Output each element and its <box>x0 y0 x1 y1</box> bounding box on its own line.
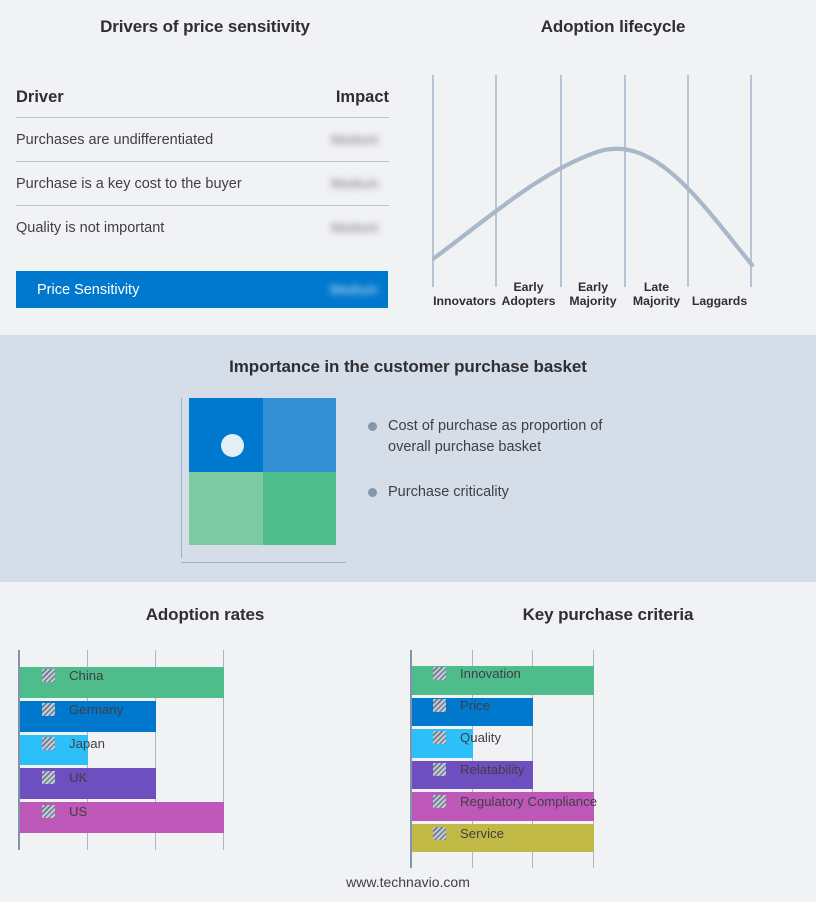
adoption-rates-legend: ChinaGermanyJapanUKUS <box>42 668 123 819</box>
legend-item[interactable]: Japan <box>42 736 123 751</box>
drivers-table: Driver Impact Purchases are undifferenti… <box>16 88 389 249</box>
column-header-driver: Driver <box>16 88 64 107</box>
basket-legend: Cost of purchase as proportion of overal… <box>368 416 668 527</box>
footer-url: www.technavio.com <box>0 874 816 890</box>
table-row: Purchases are undifferentiated Medium <box>16 118 389 162</box>
summary-label: Price Sensitivity <box>37 282 139 298</box>
driver-label: Quality is not important <box>16 220 164 236</box>
lifecycle-title: Adoption lifecycle <box>410 17 816 37</box>
legend-label: Service <box>460 826 504 841</box>
hatched-swatch-icon <box>433 667 446 680</box>
infographic-page: Drivers of price sensitivity Driver Impa… <box>0 0 816 902</box>
basket-quadrant-matrix <box>181 398 346 563</box>
top-section: Drivers of price sensitivity Driver Impa… <box>0 0 816 335</box>
lifecycle-curve-svg <box>432 75 802 310</box>
drivers-table-header: Driver Impact <box>16 88 389 118</box>
adoption-rates-title: Adoption rates <box>0 605 410 625</box>
panel-drivers-of-price-sensitivity: Drivers of price sensitivity Driver Impa… <box>0 0 410 335</box>
hatched-swatch-icon <box>433 699 446 712</box>
legend-item[interactable]: Service <box>433 826 597 841</box>
legend-label: Innovation <box>460 666 521 681</box>
criteria-legend: InnovationPriceQualityRelatabilityRegula… <box>433 666 597 841</box>
panel-adoption-lifecycle: Adoption lifecycle Innovators Ear <box>410 0 816 335</box>
legend-label: Price <box>460 698 490 713</box>
matrix-quadrants <box>189 398 336 545</box>
legend-item[interactable]: Price <box>433 698 597 713</box>
bullet-icon <box>368 422 377 431</box>
quadrant-bottom-right <box>263 472 337 546</box>
hatched-swatch-icon <box>433 827 446 840</box>
legend-item[interactable]: Innovation <box>433 666 597 681</box>
panel-key-purchase-criteria: Key purchase criteria InnovationPriceQua… <box>400 582 816 902</box>
quadrant-top-right <box>263 398 337 472</box>
panel-adoption-rates: Adoption rates ChinaGermanyJapanUKUS <box>0 582 410 902</box>
table-row: Quality is not important Medium <box>16 206 389 249</box>
hatched-swatch-icon <box>433 795 446 808</box>
adoption-rates-chart: ChinaGermanyJapanUKUS <box>18 650 390 850</box>
legend-label: Japan <box>69 736 105 751</box>
impact-value-redacted: Medium <box>331 220 389 235</box>
impact-value-redacted: Medium <box>331 132 389 147</box>
hatched-swatch-icon <box>42 669 55 682</box>
driver-label: Purchase is a key cost to the buyer <box>16 176 242 192</box>
hatched-swatch-icon <box>433 731 446 744</box>
legend-label: China <box>69 668 103 683</box>
price-sensitivity-summary-row: Price Sensitivity Medium <box>16 271 388 308</box>
summary-impact-redacted: Medium <box>330 282 388 297</box>
legend-label: Germany <box>69 702 123 717</box>
lifecycle-chart: Innovators Early Adopters Early Majority… <box>432 75 802 310</box>
legend-label: Relatability <box>460 762 525 777</box>
legend-label: UK <box>69 770 87 785</box>
list-item: Purchase criticality <box>368 482 668 503</box>
basket-legend-label: Cost of purchase as proportion of overal… <box>388 416 640 458</box>
basket-title: Importance in the customer purchase bask… <box>0 357 816 377</box>
matrix-position-marker <box>221 434 244 457</box>
legend-item[interactable]: Germany <box>42 702 123 717</box>
legend-label: Regulatory Compliance <box>460 794 597 809</box>
hatched-swatch-icon <box>42 703 55 716</box>
lifecycle-bell-curve <box>433 149 752 265</box>
drivers-title: Drivers of price sensitivity <box>0 17 410 37</box>
matrix-y-axis <box>181 398 182 558</box>
legend-item[interactable]: Regulatory Compliance <box>433 794 597 809</box>
table-row: Purchase is a key cost to the buyer Medi… <box>16 162 389 206</box>
hatched-swatch-icon <box>42 737 55 750</box>
criteria-title: Key purchase criteria <box>400 605 816 625</box>
hatched-swatch-icon <box>42 805 55 818</box>
hatched-swatch-icon <box>433 763 446 776</box>
bullet-icon <box>368 488 377 497</box>
legend-item[interactable]: Relatability <box>433 762 597 777</box>
column-header-impact: Impact <box>336 88 389 107</box>
criteria-chart: InnovationPriceQualityRelatabilityRegula… <box>410 650 810 868</box>
quadrant-bottom-left <box>189 472 263 546</box>
basket-legend-label: Purchase criticality <box>388 482 509 503</box>
legend-item[interactable]: Quality <box>433 730 597 745</box>
bottom-section: Adoption rates ChinaGermanyJapanUKUS Key… <box>0 582 816 902</box>
legend-label: US <box>69 804 87 819</box>
list-item: Cost of purchase as proportion of overal… <box>368 416 668 458</box>
lifecycle-dividers <box>433 75 751 287</box>
legend-item[interactable]: UK <box>42 770 123 785</box>
driver-label: Purchases are undifferentiated <box>16 132 213 148</box>
legend-label: Quality <box>460 730 501 745</box>
impact-value-redacted: Medium <box>331 176 389 191</box>
hatched-swatch-icon <box>42 771 55 784</box>
legend-item[interactable]: US <box>42 804 123 819</box>
legend-item[interactable]: China <box>42 668 123 683</box>
matrix-x-axis <box>181 562 346 563</box>
